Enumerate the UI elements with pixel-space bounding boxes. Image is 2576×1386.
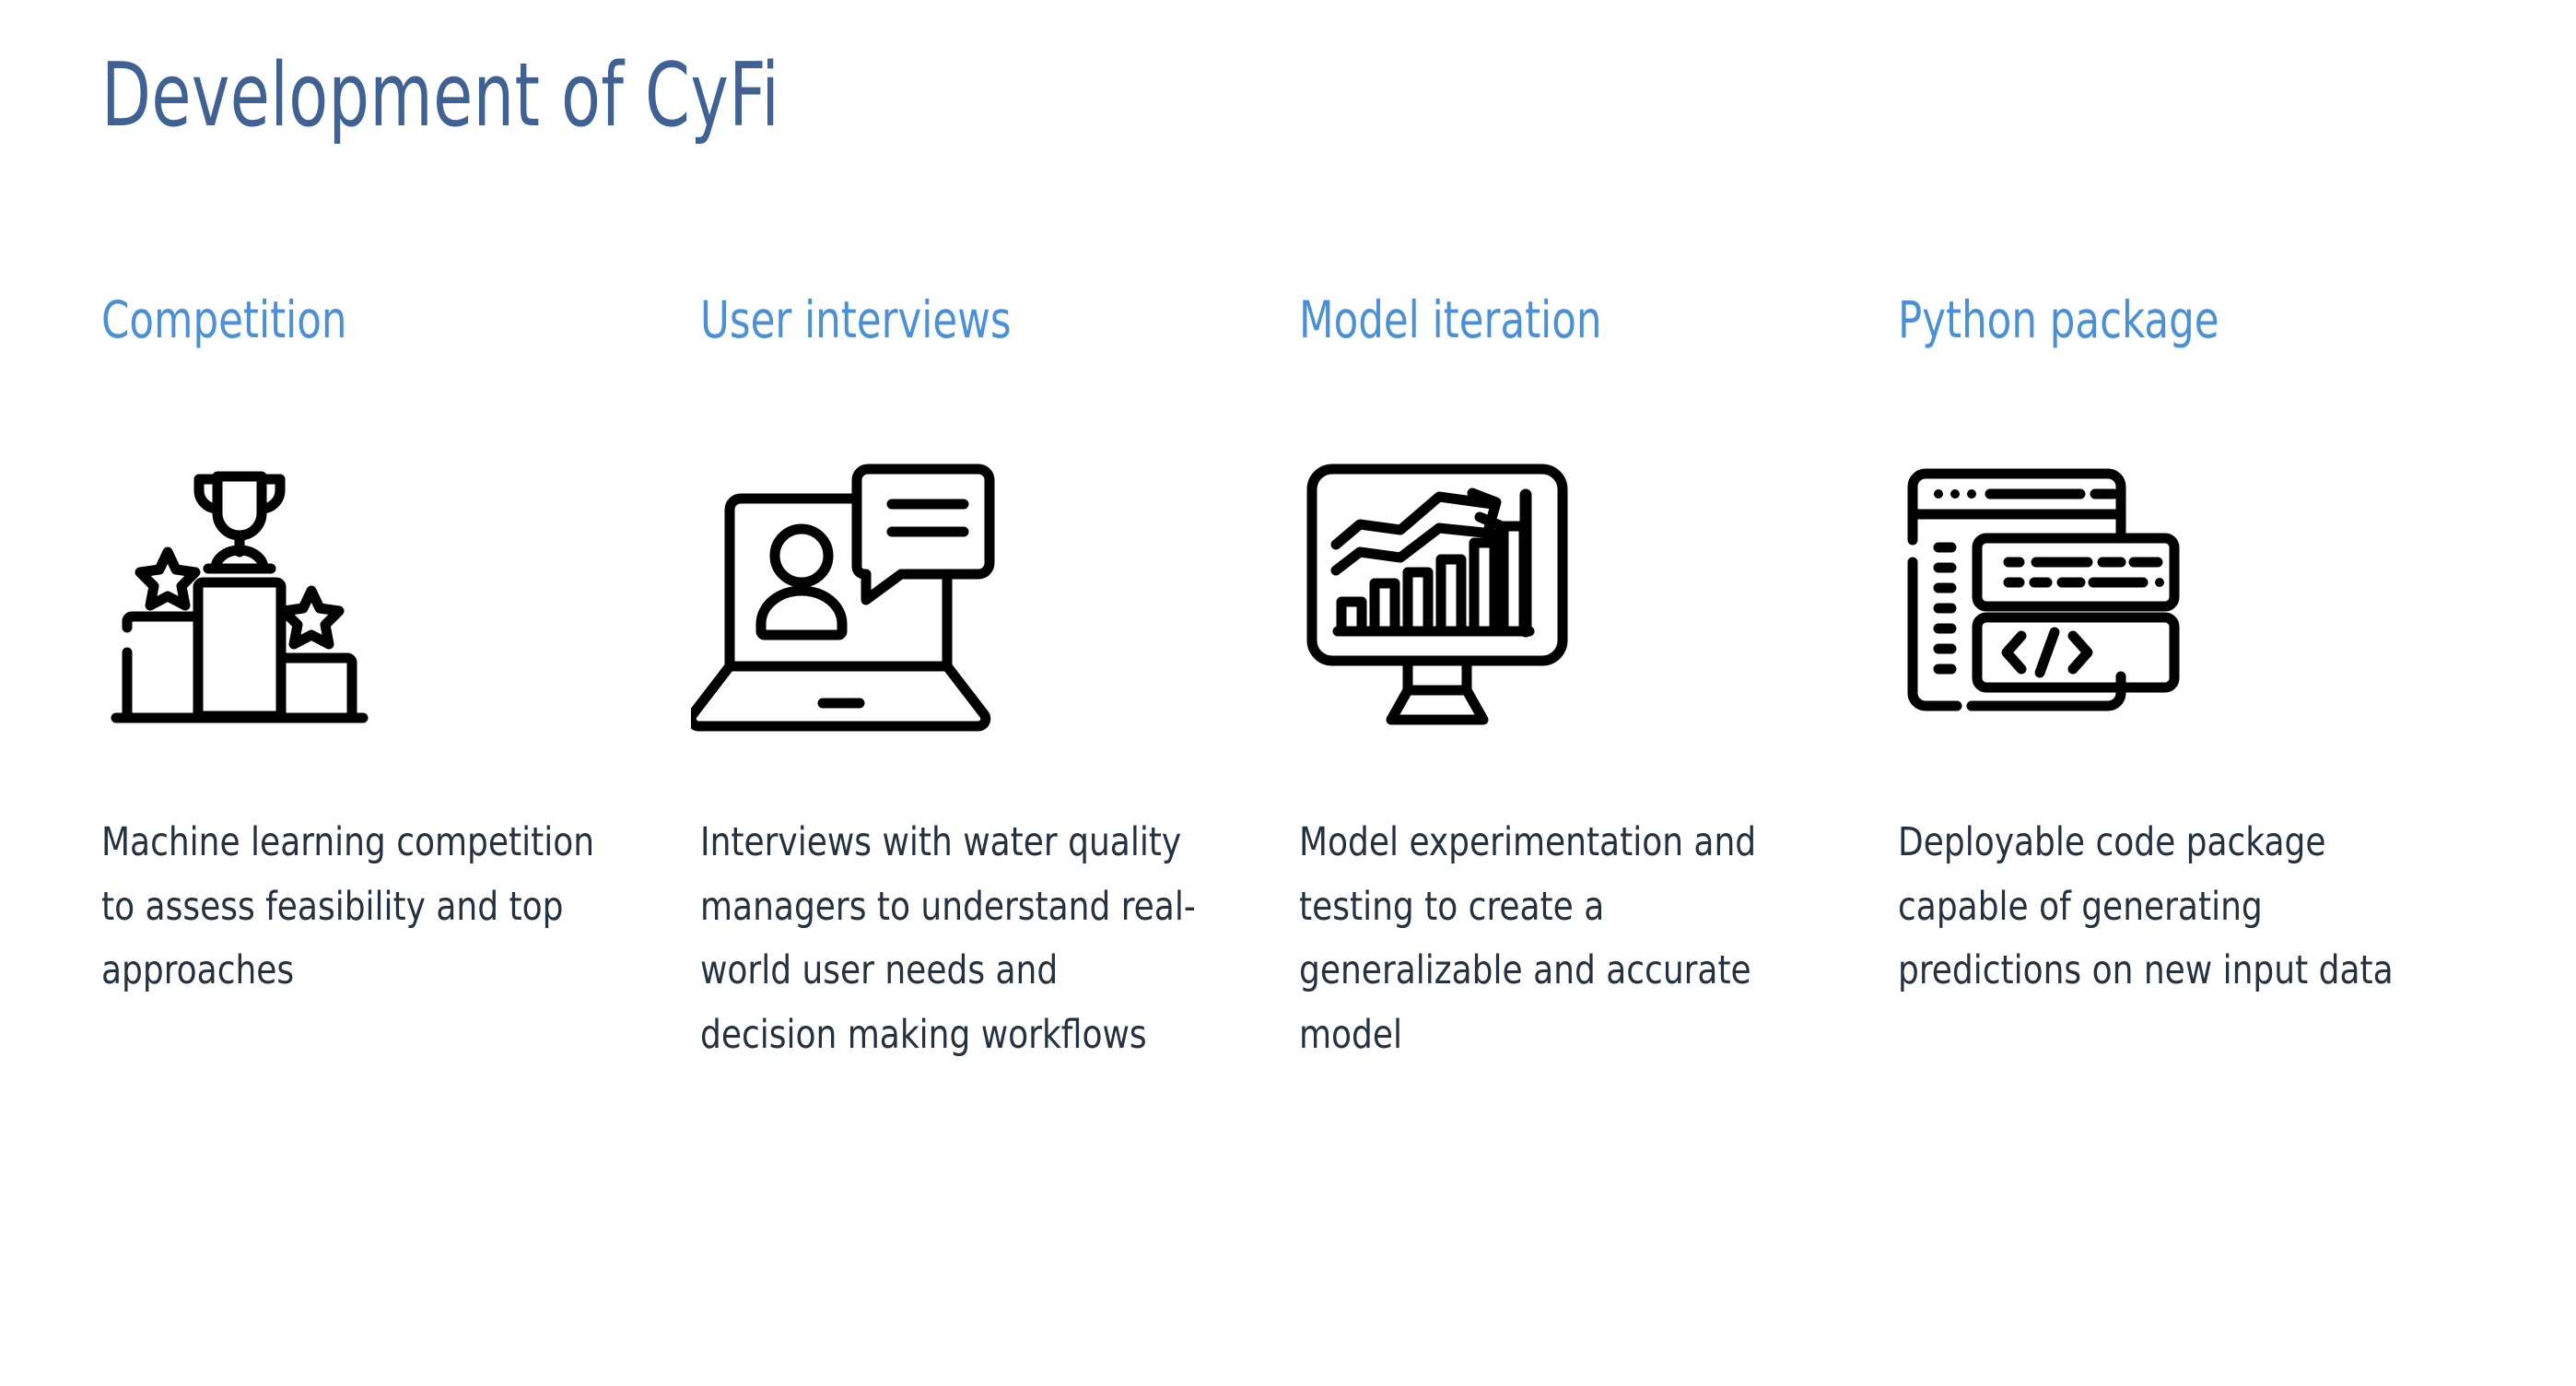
columns-container: Competition	[101, 295, 2497, 1068]
column-heading-user-interviews: User interviews	[700, 295, 1012, 346]
column-body-python-package: Deployable code package capable of gener…	[1898, 811, 2395, 1004]
column-python-package: Python package	[1898, 295, 2497, 1004]
monitor-bar-chart-icon	[1299, 410, 1732, 779]
column-heading-model-iteration: Model iteration	[1299, 295, 1602, 346]
column-competition: Competition	[101, 295, 700, 1004]
column-heading-python-package: Python package	[1898, 295, 2219, 346]
laptop-person-chat-icon	[691, 410, 1124, 779]
column-heading-competition: Competition	[101, 295, 346, 346]
page-title: Development of CyFi	[101, 48, 779, 145]
code-window-icon	[1898, 410, 2331, 779]
slide-canvas: Development of CyFi Competition	[0, 0, 2576, 1386]
podium-trophy-icon	[101, 410, 534, 779]
column-user-interviews: User interviews	[700, 295, 1299, 1068]
column-body-competition: Machine learning competition to assess f…	[101, 811, 598, 1004]
column-model-iteration: Model iteration	[1299, 295, 1898, 1068]
column-body-user-interviews: Interviews with water quality managers t…	[700, 811, 1197, 1068]
column-body-model-iteration: Model experimentation and testing to cre…	[1299, 811, 1796, 1068]
